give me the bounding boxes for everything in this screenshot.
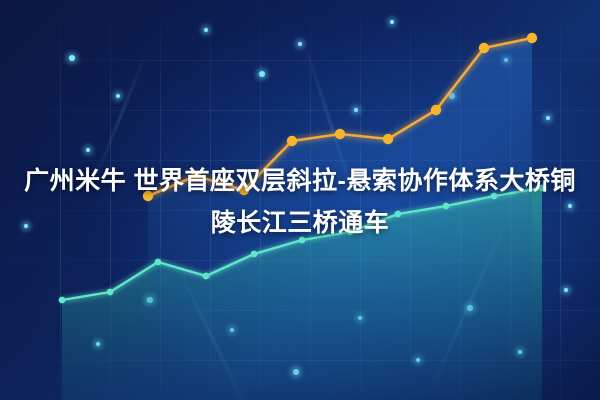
chart-data-point: [431, 105, 441, 115]
chart-data-point: [335, 129, 345, 139]
chart-data-point: [287, 136, 297, 146]
headline-line-1: 广州米牛 世界首座双层斜拉-悬索协作体系大桥铜: [6, 160, 594, 202]
chart-data-point: [251, 251, 258, 258]
chart-data-point: [155, 259, 162, 266]
chart-data-point: [107, 289, 114, 296]
chart-data-point: [527, 33, 537, 43]
chart-data-point: [203, 273, 210, 280]
headline-line-2: 陵长江三桥通车: [6, 202, 594, 244]
promo-banner: 广州米牛 世界首座双层斜拉-悬索协作体系大桥铜 陵长江三桥通车: [0, 0, 600, 400]
chart-data-point: [59, 297, 66, 304]
chart-data-point: [479, 43, 489, 53]
chart-data-point: [383, 134, 393, 144]
page-title: 广州米牛 世界首座双层斜拉-悬索协作体系大桥铜 陵长江三桥通车: [0, 160, 600, 244]
